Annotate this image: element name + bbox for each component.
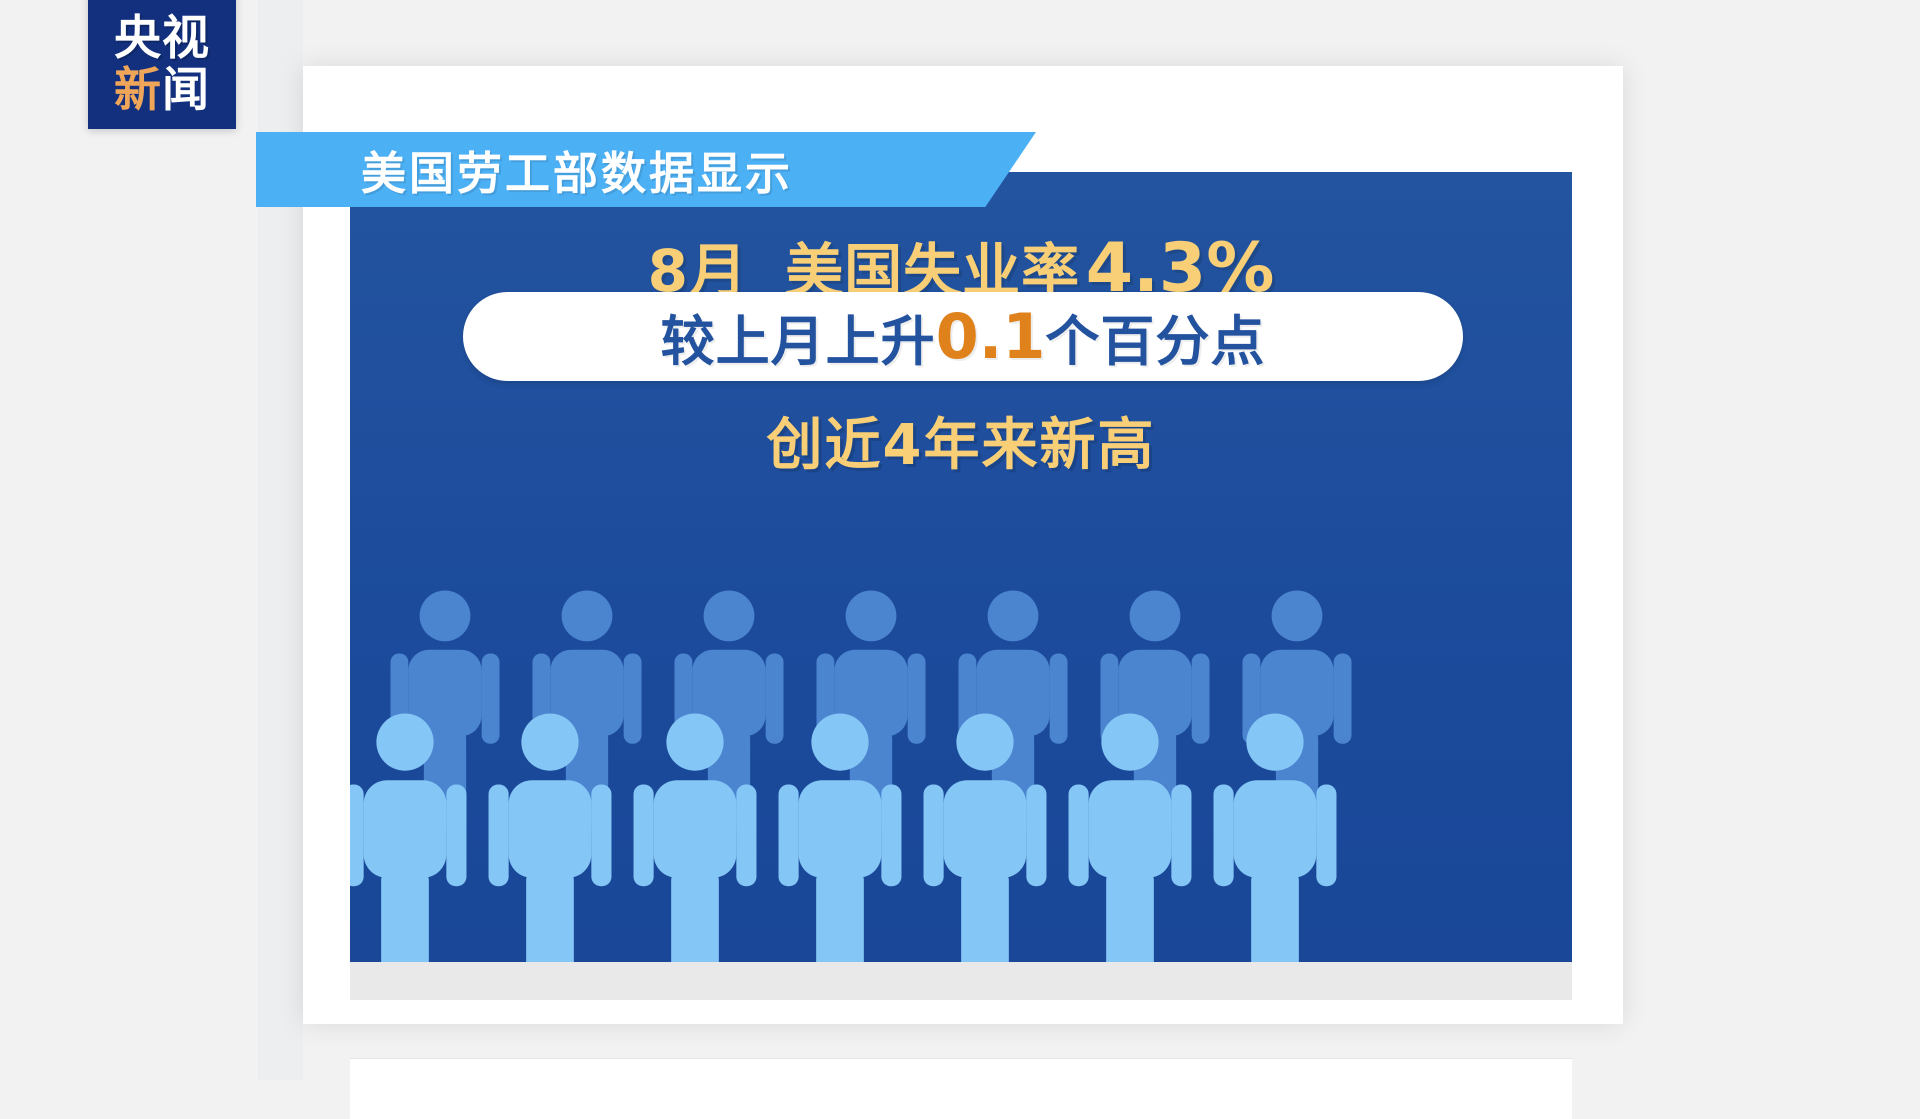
people-pictogram-group [350, 472, 1572, 962]
logo-line-2: 新闻 [114, 67, 210, 115]
front-row-figures [350, 714, 1336, 963]
ribbon-banner: 美国劳工部数据显示 [256, 132, 1036, 207]
page-background: 8月 美国失业率 4.3% 较上月上升0.1个百分点 创近4年来新高 美国劳工部… [0, 0, 1920, 1080]
logo-line-1: 央视 [114, 15, 210, 63]
next-card-preview [350, 1058, 1572, 1119]
ribbon-label: 美国劳工部数据显示 [361, 137, 793, 202]
highlight-pill: 较上月上升0.1个百分点 [463, 292, 1463, 381]
poster-bottom-band [350, 962, 1572, 1000]
infographic-poster: 8月 美国失业率 4.3% 较上月上升0.1个百分点 创近4年来新高 [350, 172, 1572, 962]
logo-char-xin: 新 [114, 63, 162, 118]
pill-suffix: 个百分点 [1045, 297, 1265, 376]
pill-number: 0.1 [936, 300, 1046, 373]
cctv-news-logo: 央视 新闻 [88, 0, 236, 129]
subline: 创近4年来新高 [350, 400, 1572, 481]
left-margin-strip [0, 0, 258, 1080]
logo-char-wen: 闻 [162, 63, 210, 118]
people-pictogram-svg [350, 472, 1572, 962]
pill-prefix: 较上月上升 [661, 297, 936, 376]
